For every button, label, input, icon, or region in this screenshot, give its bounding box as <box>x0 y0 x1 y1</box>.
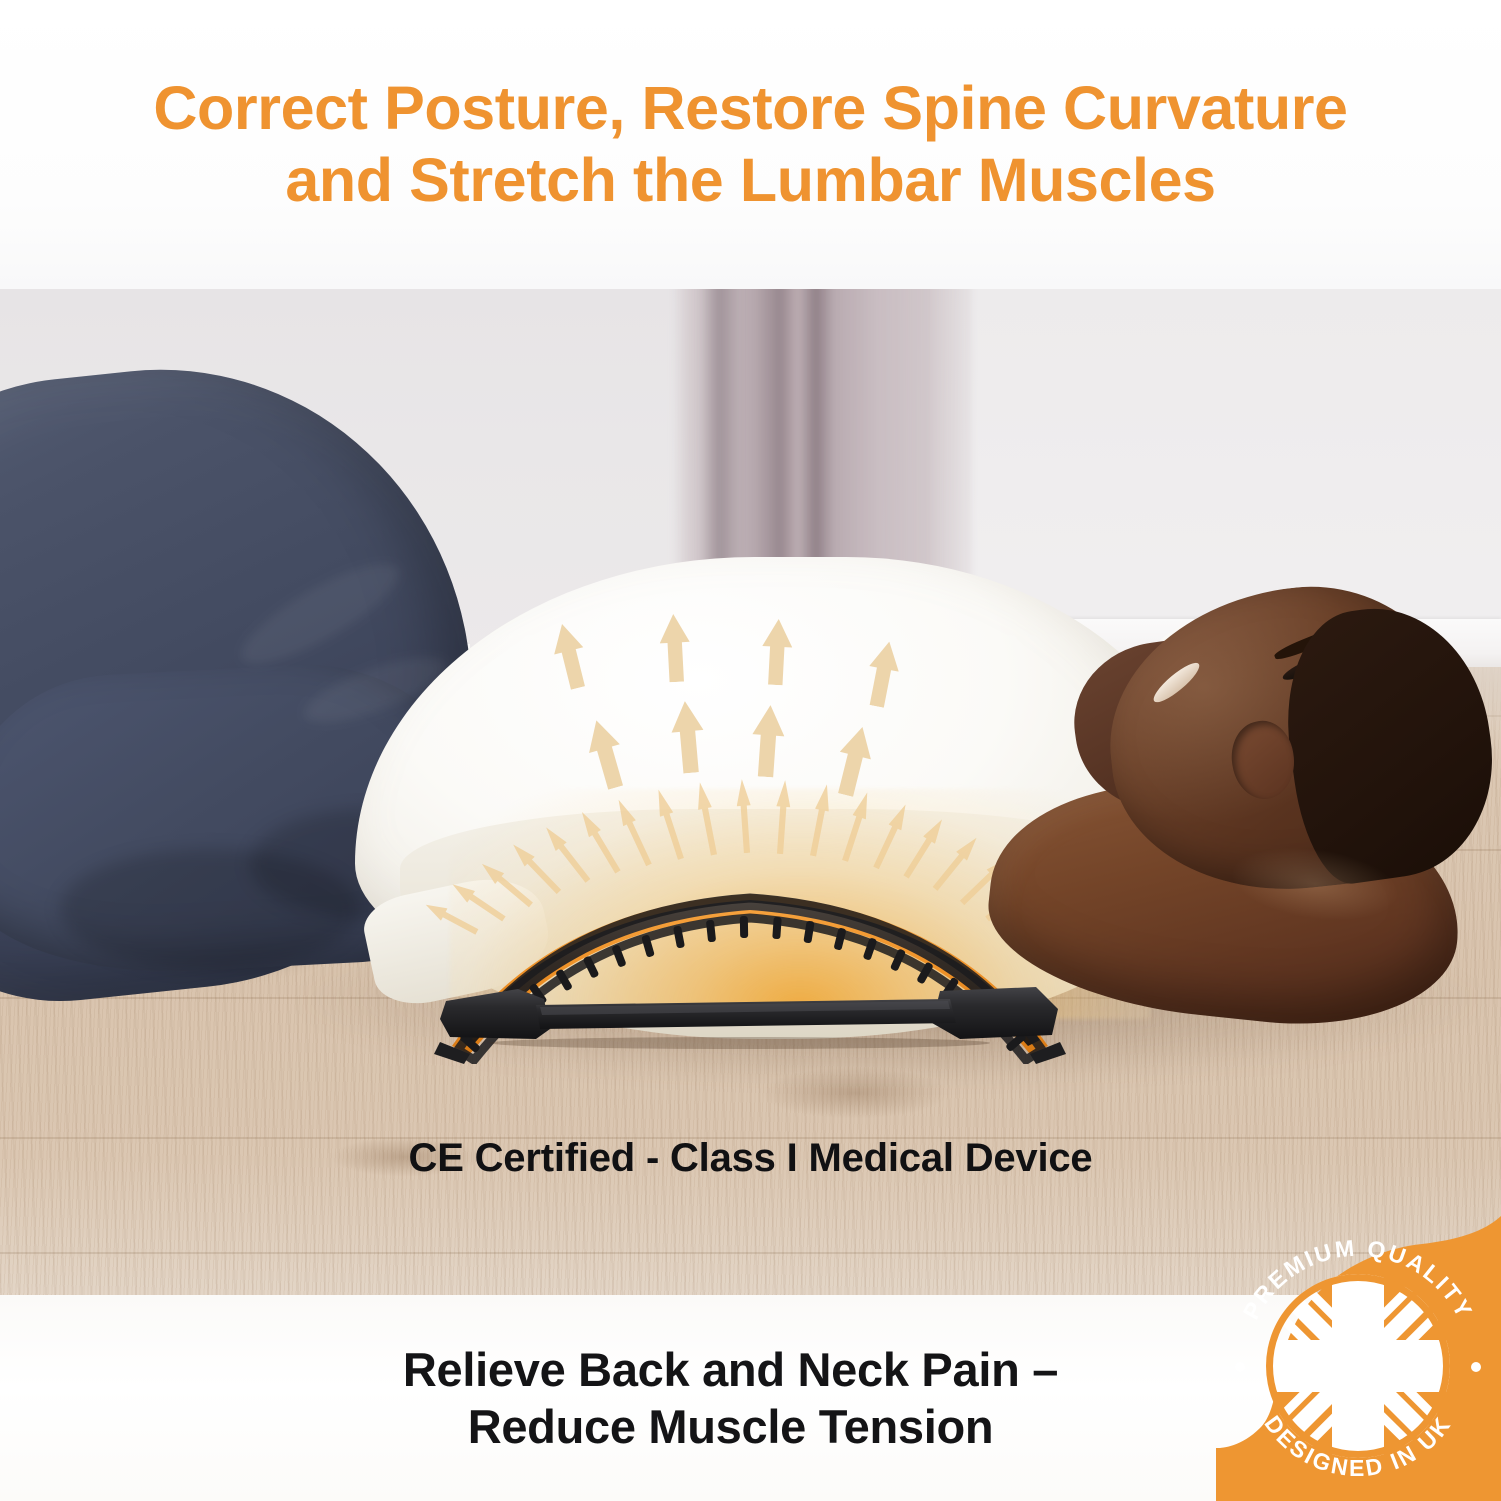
subheadline: Relieve Back and Neck Pain – Reduce Musc… <box>403 1341 1058 1456</box>
certification-text: CE Certified - Class I Medical Device <box>0 1136 1501 1181</box>
subheadline-line-1: Relieve Back and Neck Pain – <box>403 1343 1058 1396</box>
headline-line-1: Correct Posture, Restore Spine Curvature <box>153 74 1347 142</box>
mouth <box>1149 658 1204 708</box>
headline-banner: Correct Posture, Restore Spine Curvature… <box>0 0 1501 289</box>
headline-line-2: and Stretch the Lumbar Muscles <box>81 145 1421 217</box>
subheadline-line-2: Reduce Muscle Tension <box>468 1400 994 1453</box>
page-title: Correct Posture, Restore Spine Curvature… <box>81 73 1421 217</box>
badge-dot-left <box>1235 1362 1245 1372</box>
stretcher-base-frame <box>440 979 1060 1051</box>
premium-quality-badge: PREMIUM QUALITY DESIGNED IN UK <box>1216 1216 1501 1501</box>
badge-dot-right <box>1471 1362 1481 1372</box>
product-marketing-image: Correct Posture, Restore Spine Curvature… <box>0 0 1501 1501</box>
